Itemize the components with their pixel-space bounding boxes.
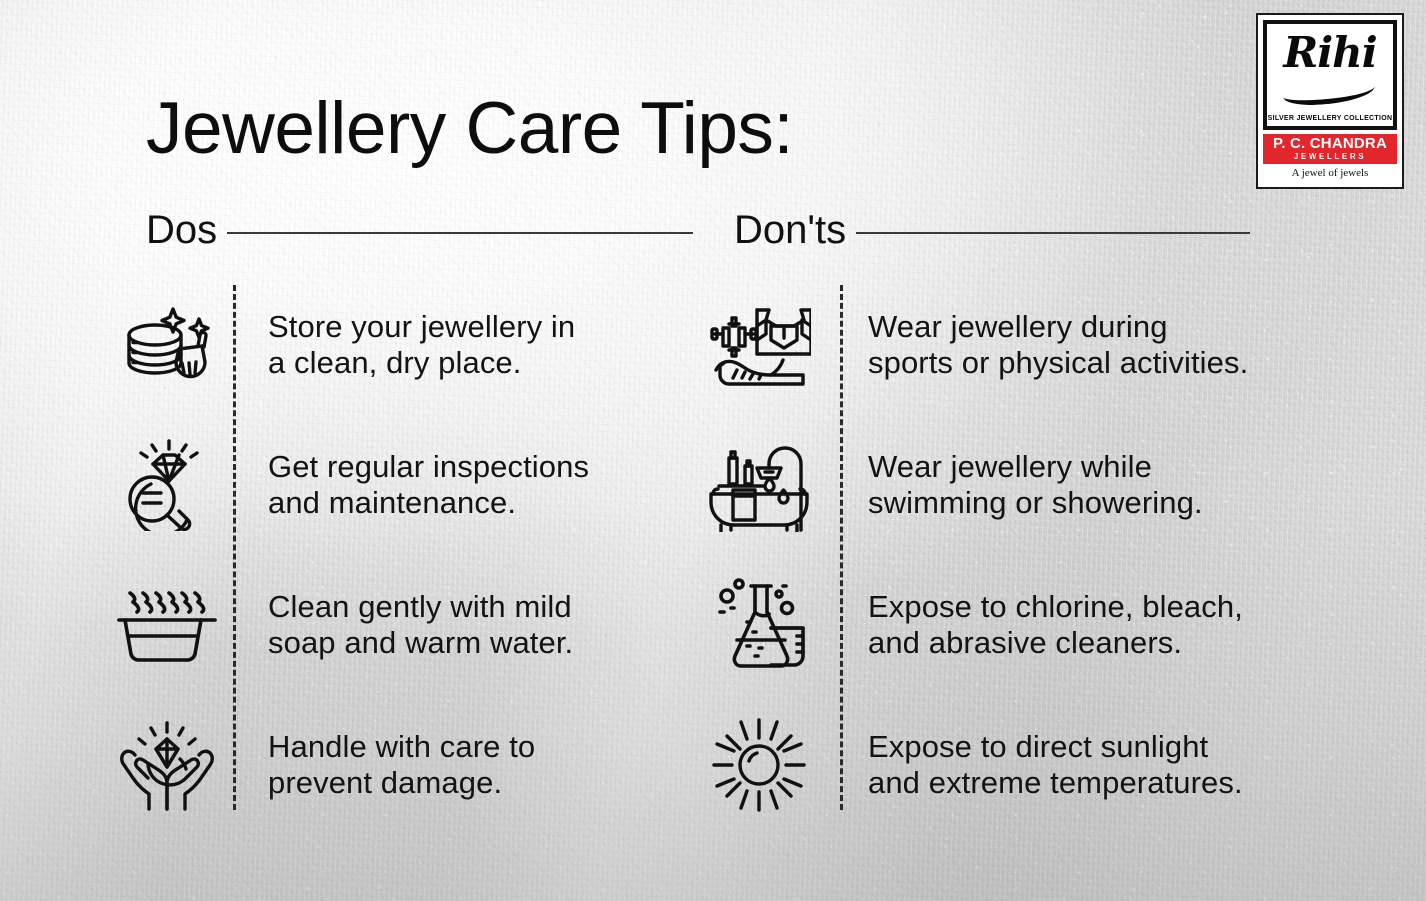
logo-brand-script: Rihi bbox=[1283, 32, 1376, 74]
list-item: Get regular inspections and maintenance. bbox=[112, 415, 712, 555]
column-heading-dos: Dos bbox=[146, 207, 693, 253]
list-item: Expose to chlorine, bleach, and abrasive… bbox=[700, 555, 1340, 695]
list-item: Expose to direct sunlight and extreme te… bbox=[700, 695, 1340, 835]
steaming-wash-basin-icon bbox=[112, 584, 222, 666]
list-item-text: Get regular inspections and maintenance. bbox=[268, 449, 589, 522]
hands-holding-diamond-ring-icon bbox=[112, 717, 222, 813]
list-item: Clean gently with mild soap and warm wat… bbox=[112, 555, 712, 695]
logo-company-sub: JEWELLERS bbox=[1263, 152, 1397, 162]
list-item-text: Wear jewellery while swimming or showeri… bbox=[868, 449, 1203, 522]
list-item-text: Store your jewellery in a clean, dry pla… bbox=[268, 309, 575, 382]
jewellery-box-brush-sparkle-icon bbox=[112, 301, 222, 389]
jewellery-care-tips-poster: Jewellery Care Tips: Dos bbox=[0, 0, 1426, 901]
donts-column: Wear jewellery during sports or physical… bbox=[700, 275, 1340, 835]
column-heading-donts: Don'ts bbox=[734, 207, 1250, 253]
logo-company-banner: P. C. CHANDRA JEWELLERS bbox=[1263, 134, 1397, 164]
sports-gear-dumbbell-shoe-icon bbox=[700, 300, 818, 390]
list-item-text: Expose to direct sunlight and extreme te… bbox=[868, 729, 1243, 802]
brand-logo: Rihi SILVER JEWELLERY COLLECTION P. C. C… bbox=[1256, 13, 1404, 189]
column-heading-donts-rule bbox=[856, 232, 1250, 234]
logo-collection-line: SILVER JEWELLERY COLLECTION bbox=[1268, 115, 1393, 122]
column-heading-donts-label: Don'ts bbox=[734, 210, 846, 250]
list-item-text: Wear jewellery during sports or physical… bbox=[868, 309, 1248, 382]
page-title: Jewellery Care Tips: bbox=[146, 92, 793, 165]
list-item: Handle with care to prevent damage. bbox=[112, 695, 712, 835]
logo-company-name: P. C. CHANDRA bbox=[1263, 136, 1397, 152]
list-item-text: Handle with care to prevent damage. bbox=[268, 729, 535, 802]
logo-swoosh-flourish bbox=[1282, 76, 1376, 107]
sun-rays-icon bbox=[700, 716, 818, 814]
list-item: Store your jewellery in a clean, dry pla… bbox=[112, 275, 712, 415]
logo-top-panel: Rihi SILVER JEWELLERY COLLECTION bbox=[1263, 20, 1397, 130]
list-item: Wear jewellery during sports or physical… bbox=[700, 275, 1340, 415]
ring-magnifier-inspection-icon bbox=[112, 439, 222, 531]
list-item: Wear jewellery while swimming or showeri… bbox=[700, 415, 1340, 555]
chemical-flasks-icon bbox=[700, 578, 818, 672]
list-item-text: Clean gently with mild soap and warm wat… bbox=[268, 589, 573, 662]
column-heading-dos-label: Dos bbox=[146, 210, 217, 250]
logo-tagline: A jewel of jewels bbox=[1263, 167, 1397, 179]
column-heading-dos-rule bbox=[227, 232, 693, 234]
list-item-text: Expose to chlorine, bleach, and abrasive… bbox=[868, 589, 1243, 662]
dos-column: Store your jewellery in a clean, dry pla… bbox=[112, 275, 712, 835]
bathtub-shower-icon bbox=[700, 438, 818, 532]
